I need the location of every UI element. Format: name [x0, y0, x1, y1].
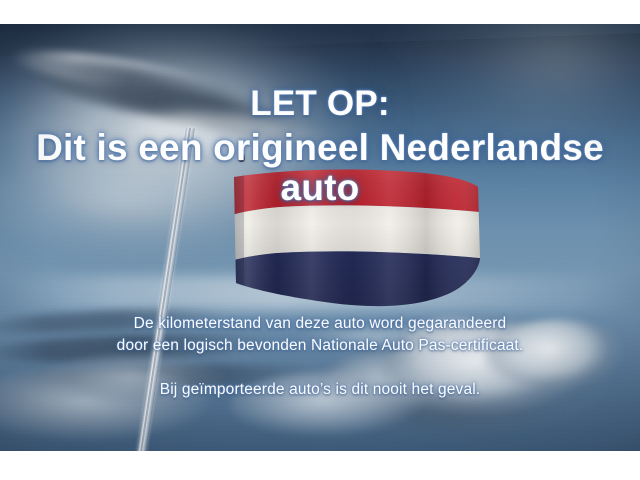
sky-haze-glow-top-right: [380, 24, 640, 174]
letterbox-bar-bottom: [0, 451, 640, 480]
letterbox-bar-top: [0, 0, 640, 24]
flagpole-finial: [238, 153, 245, 162]
cumulus-cloud: [484, 319, 634, 405]
cumulus-cloud: [40, 353, 230, 413]
image-canvas: LET OP: Dit is een origineel Nederlandse…: [0, 0, 640, 480]
sky-photo-background: LET OP: Dit is een origineel Nederlandse…: [0, 24, 640, 451]
stratus-streak: [0, 304, 230, 338]
netherlands-flag: [228, 167, 484, 307]
cumulus-cloud: [230, 371, 430, 443]
